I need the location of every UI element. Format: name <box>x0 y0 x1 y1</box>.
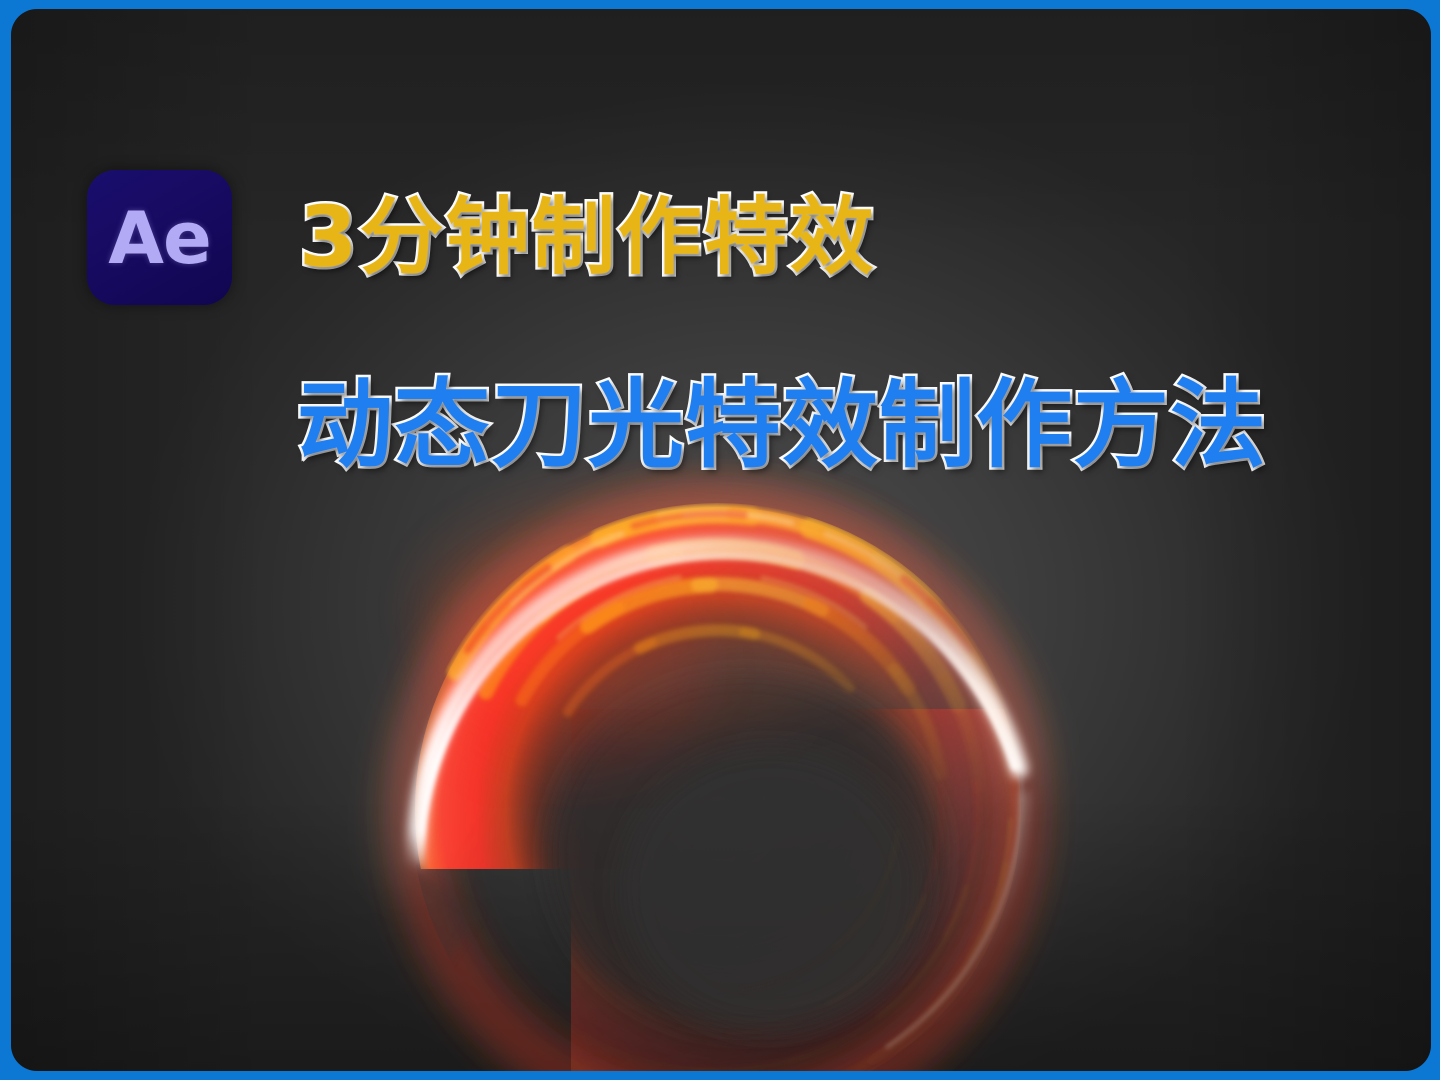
title-line-secondary: 动态刀光特效制作方法 <box>297 377 1267 473</box>
arc-leading-edge <box>412 519 1021 871</box>
arc-streaks-bright <box>456 513 1014 788</box>
after-effects-logo-text: Ae <box>108 202 211 274</box>
thumbnail-canvas: Ae 3分钟制作特效 动态刀光特效制作方法 <box>11 9 1431 1071</box>
arc-body-bright <box>415 507 1021 1071</box>
arc-start-cut <box>276 500 745 977</box>
arc-bloom <box>421 489 921 779</box>
background-vignette <box>11 9 1431 1071</box>
blue-frame-border: Ae 3分钟制作特效 动态刀光特效制作方法 <box>1 0 1439 1080</box>
blade-light-svg <box>11 9 1431 1071</box>
title-line-primary: 3分钟制作特效 <box>299 195 875 279</box>
blade-light-artwork <box>11 9 1431 1071</box>
arc-body-trailing <box>415 507 1021 1071</box>
arc-outer-glow <box>373 465 1063 1071</box>
arc-rim-dim <box>871 779 1024 1062</box>
thumbnail-root: Ae 3分钟制作特效 动态刀光特效制作方法 <box>0 0 1440 1080</box>
after-effects-logo: Ae <box>87 170 232 305</box>
arc-streaks-trailing <box>690 770 1016 1071</box>
arc-inner-shadow <box>550 676 942 1032</box>
